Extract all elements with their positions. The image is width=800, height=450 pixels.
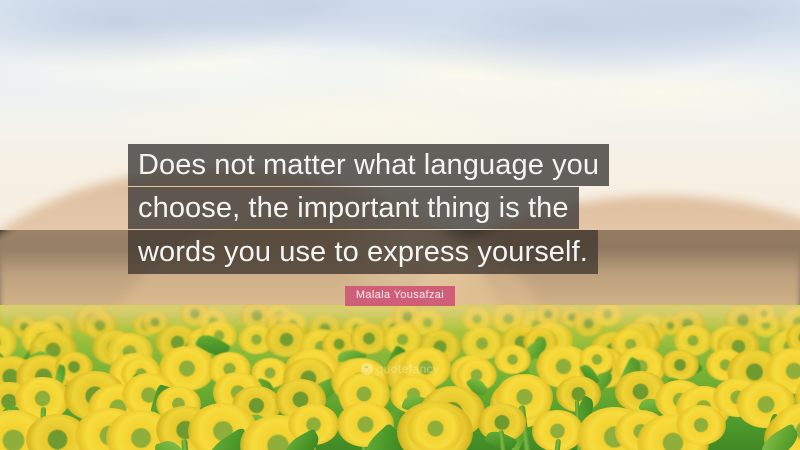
author-badge[interactable]: Malala Yousafzai — [345, 286, 455, 306]
quote-line-3: words you use to express yourself. — [128, 230, 598, 274]
sunflower — [494, 345, 531, 375]
quote-line-1: Does not matter what language you — [128, 144, 609, 186]
author-attribution: Malala Yousafzai — [0, 285, 800, 306]
sunflower-field — [0, 305, 800, 450]
sunflower — [661, 350, 699, 380]
quote-line-2: choose, the important thing is the — [128, 187, 579, 229]
sunflower-stem — [554, 438, 561, 450]
field-top-haze — [0, 305, 800, 331]
sunflower — [676, 405, 726, 445]
sunflower — [407, 406, 464, 450]
quote-block: Does not matter what language you choose… — [0, 144, 800, 275]
quote-card: Does not matter what language you choose… — [0, 0, 800, 450]
